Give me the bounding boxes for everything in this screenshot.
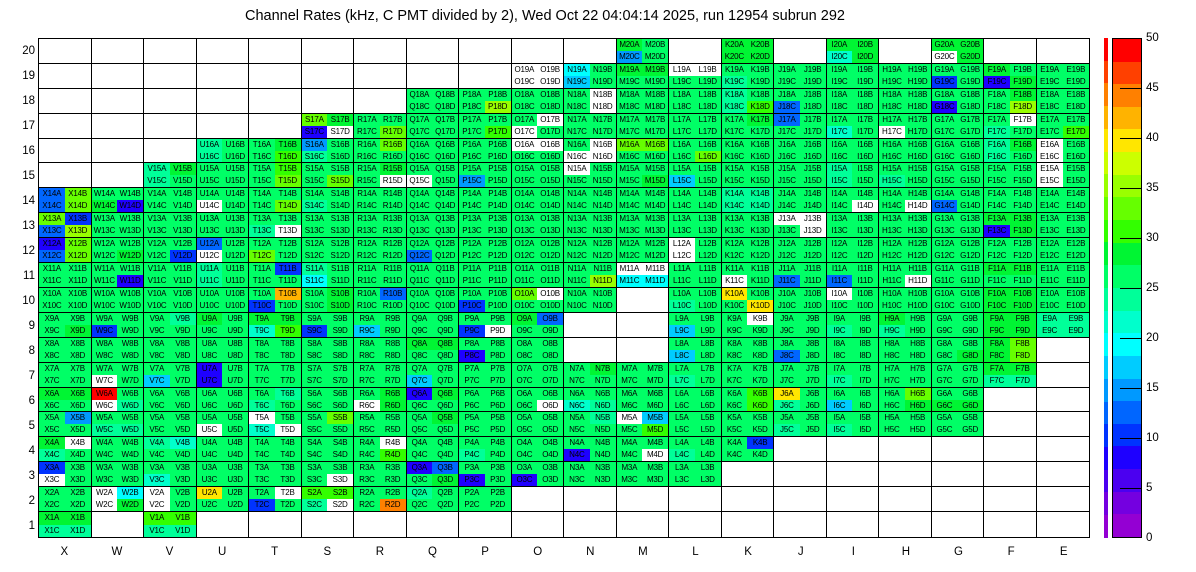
heatmap-subcell[interactable]: T16B (275, 139, 301, 151)
heatmap-subcell[interactable]: K5A (722, 412, 748, 424)
heatmap-subcell[interactable]: P5B (485, 412, 511, 424)
heatmap-subcell[interactable]: S14D (327, 200, 353, 212)
heatmap-cell[interactable]: P14AP14BP14CP14D (459, 188, 512, 213)
heatmap-subcell[interactable]: R7C (354, 375, 380, 387)
heatmap-subcell[interactable]: M3D (642, 474, 668, 486)
heatmap-subcell[interactable]: S6D (327, 400, 353, 412)
heatmap-subcell[interactable]: T10D (275, 300, 301, 312)
heatmap-subcell[interactable]: K9D (747, 325, 773, 337)
heatmap-cell[interactable] (1037, 437, 1090, 462)
heatmap-subcell[interactable]: K18D (747, 101, 773, 113)
heatmap-cell[interactable]: L17AL17BL17CL17D (669, 114, 722, 139)
heatmap-subcell[interactable]: F19A (984, 64, 1010, 76)
heatmap-subcell[interactable]: W10C (92, 300, 118, 312)
heatmap-cell[interactable]: W5AW5BW5CW5D (92, 412, 145, 437)
heatmap-subcell[interactable]: O3A (512, 462, 538, 474)
heatmap-cell[interactable]: T9AT9BT9CT9D (249, 313, 302, 338)
heatmap-subcell[interactable]: E19D (1063, 76, 1089, 88)
heatmap-subcell[interactable]: K14C (722, 200, 748, 212)
heatmap-subcell[interactable]: H7D (905, 375, 931, 387)
heatmap-subcell[interactable]: U10B (222, 288, 248, 300)
heatmap-subcell[interactable]: P15D (485, 175, 511, 187)
heatmap-subcell[interactable]: M5B (642, 412, 668, 424)
heatmap-subcell[interactable]: P7A (459, 363, 485, 375)
heatmap-subcell[interactable]: L7B (695, 363, 721, 375)
heatmap-subcell[interactable]: I13D (852, 225, 878, 237)
heatmap-subcell[interactable]: N13C (564, 225, 590, 237)
heatmap-subcell[interactable]: H14A (879, 188, 905, 200)
heatmap-subcell[interactable]: H17A (879, 114, 905, 126)
heatmap-cell[interactable] (459, 64, 512, 89)
heatmap-subcell[interactable]: N10C (564, 300, 590, 312)
heatmap-subcell[interactable]: S8A (302, 338, 328, 350)
heatmap-cell[interactable] (984, 388, 1037, 413)
heatmap-subcell[interactable]: L18B (695, 89, 721, 101)
heatmap-cell[interactable]: V14AV14BV14CV14D (144, 188, 197, 213)
heatmap-cell[interactable] (1037, 363, 1090, 388)
heatmap-subcell[interactable]: G5A (932, 412, 958, 424)
heatmap-subcell[interactable]: V14B (170, 188, 196, 200)
heatmap-cell[interactable]: O12AO12BO12CO12D (512, 238, 565, 263)
heatmap-cell[interactable] (774, 437, 827, 462)
heatmap-subcell[interactable]: K7B (747, 363, 773, 375)
heatmap-subcell[interactable]: V9D (170, 325, 196, 337)
heatmap-subcell[interactable]: G15D (957, 175, 983, 187)
heatmap-subcell[interactable]: W14D (117, 200, 143, 212)
heatmap-subcell[interactable]: S13A (302, 213, 328, 225)
heatmap-cell[interactable]: G20AG20BG20CG20D (932, 39, 985, 64)
heatmap-subcell[interactable]: H13A (879, 213, 905, 225)
heatmap-subcell[interactable]: X9A (39, 313, 65, 325)
heatmap-subcell[interactable]: Q15C (407, 175, 433, 187)
heatmap-cell[interactable]: Q12AQ12BQ12CQ12D (407, 238, 460, 263)
heatmap-subcell[interactable]: L13B (695, 213, 721, 225)
heatmap-cell[interactable]: G6AG6BG6CG6D (932, 388, 985, 413)
heatmap-subcell[interactable]: F16A (984, 139, 1010, 151)
heatmap-subcell[interactable]: R2A (354, 487, 380, 499)
heatmap-subcell[interactable]: P2B (485, 487, 511, 499)
heatmap-cell[interactable]: S9AS9BS9CS9D (302, 313, 355, 338)
heatmap-cell[interactable] (302, 89, 355, 114)
heatmap-cell[interactable]: I19AI19BI19CI19D (827, 64, 880, 89)
heatmap-subcell[interactable]: R14D (380, 200, 406, 212)
heatmap-subcell[interactable]: G7C (932, 375, 958, 387)
heatmap-subcell[interactable]: T9D (275, 325, 301, 337)
heatmap-subcell[interactable]: L3D (695, 474, 721, 486)
heatmap-subcell[interactable]: P7D (485, 375, 511, 387)
heatmap-subcell[interactable]: T7D (275, 375, 301, 387)
heatmap-subcell[interactable]: W11B (117, 263, 143, 275)
heatmap-subcell[interactable]: O7C (512, 375, 538, 387)
heatmap-cell[interactable]: W14AW14BW14CW14D (92, 188, 145, 213)
heatmap-subcell[interactable]: G17D (957, 126, 983, 138)
heatmap-cell[interactable]: X12AX12BX12CX12D (39, 238, 92, 263)
heatmap-subcell[interactable]: S13C (302, 225, 328, 237)
heatmap-subcell[interactable]: E16B (1063, 139, 1089, 151)
heatmap-subcell[interactable]: T16D (275, 151, 301, 163)
heatmap-subcell[interactable]: U15A (197, 163, 223, 175)
heatmap-subcell[interactable]: M18D (642, 101, 668, 113)
heatmap-cell[interactable]: V10AV10BV10CV10D (144, 288, 197, 313)
heatmap-cell[interactable]: H15AH15BH15CH15D (879, 163, 932, 188)
heatmap-subcell[interactable]: G17A (932, 114, 958, 126)
heatmap-subcell[interactable]: Q3C (407, 474, 433, 486)
heatmap-subcell[interactable]: N17C (564, 126, 590, 138)
heatmap-cell[interactable]: U2AU2BU2CU2D (197, 487, 250, 512)
heatmap-cell[interactable]: J6AJ6BJ6CJ6D (774, 388, 827, 413)
heatmap-subcell[interactable]: P16D (485, 151, 511, 163)
heatmap-cell[interactable]: V3AV3BV3CV3D (144, 462, 197, 487)
heatmap-subcell[interactable]: M17A (617, 114, 643, 126)
heatmap-subcell[interactable]: P17D (485, 126, 511, 138)
heatmap-subcell[interactable]: T13C (249, 225, 275, 237)
heatmap-cell[interactable]: F12AF12BF12CF12D (984, 238, 1037, 263)
heatmap-subcell[interactable]: K8B (747, 338, 773, 350)
heatmap-subcell[interactable]: X3B (65, 462, 91, 474)
heatmap-subcell[interactable]: T3B (275, 462, 301, 474)
heatmap-subcell[interactable]: R3A (354, 462, 380, 474)
heatmap-subcell[interactable]: K7D (747, 375, 773, 387)
heatmap-subcell[interactable]: H13B (905, 213, 931, 225)
heatmap-subcell[interactable]: K5D (747, 424, 773, 436)
heatmap-subcell[interactable]: O10D (537, 300, 563, 312)
heatmap-subcell[interactable]: L8C (669, 350, 695, 362)
heatmap-subcell[interactable]: V11B (170, 263, 196, 275)
heatmap-subcell[interactable]: R15A (354, 163, 380, 175)
heatmap-cell[interactable]: L10AL10BL10CL10D (669, 288, 722, 313)
heatmap-subcell[interactable]: W12B (117, 238, 143, 250)
heatmap-subcell[interactable]: X2A (39, 487, 65, 499)
heatmap-subcell[interactable]: T9C (249, 325, 275, 337)
heatmap-subcell[interactable]: G10C (932, 300, 958, 312)
heatmap-cell[interactable]: O9AO9BO9CO9D (512, 313, 565, 338)
heatmap-subcell[interactable]: J15B (800, 163, 826, 175)
heatmap-subcell[interactable]: J5D (800, 424, 826, 436)
heatmap-subcell[interactable]: I10D (852, 300, 878, 312)
heatmap-subcell[interactable]: V6C (144, 400, 170, 412)
heatmap-cell[interactable] (407, 512, 460, 537)
heatmap-subcell[interactable]: K6C (722, 400, 748, 412)
heatmap-subcell[interactable]: F7D (1010, 375, 1036, 387)
heatmap-subcell[interactable]: O18A (512, 89, 538, 101)
heatmap-subcell[interactable]: R11A (354, 263, 380, 275)
heatmap-subcell[interactable]: U5B (222, 412, 248, 424)
heatmap-subcell[interactable]: O14D (537, 200, 563, 212)
heatmap-cell[interactable]: P8AP8BP8CP8D (459, 338, 512, 363)
heatmap-subcell[interactable]: F13A (984, 213, 1010, 225)
heatmap-subcell[interactable]: P17A (459, 114, 485, 126)
heatmap-subcell[interactable]: X1D (65, 525, 91, 537)
heatmap-cell[interactable]: Q10AQ10BQ10CQ10D (407, 288, 460, 313)
heatmap-subcell[interactable]: P2C (459, 499, 485, 511)
heatmap-subcell[interactable]: G7B (957, 363, 983, 375)
heatmap-subcell[interactable]: K12A (722, 238, 748, 250)
heatmap-subcell[interactable]: N16A (564, 139, 590, 151)
heatmap-subcell[interactable]: V9B (170, 313, 196, 325)
heatmap-subcell[interactable]: I9A (827, 313, 853, 325)
heatmap-cell[interactable]: U10AU10BU10CU10D (197, 288, 250, 313)
heatmap-subcell[interactable]: P8D (485, 350, 511, 362)
heatmap-cell[interactable]: I5AI5BI5CI5D (827, 412, 880, 437)
heatmap-subcell[interactable]: H15D (905, 175, 931, 187)
heatmap-cell[interactable]: O6AO6BO6CO6D (512, 388, 565, 413)
heatmap-subcell[interactable]: E16D (1063, 151, 1089, 163)
heatmap-cell[interactable] (249, 512, 302, 537)
heatmap-cell[interactable]: N15AN15BN15CN15D (564, 163, 617, 188)
heatmap-subcell[interactable]: F16B (1010, 139, 1036, 151)
heatmap-subcell[interactable]: E16C (1037, 151, 1063, 163)
heatmap-subcell[interactable]: J18C (774, 101, 800, 113)
heatmap-cell[interactable]: L16AL16BL16CL16D (669, 139, 722, 164)
heatmap-subcell[interactable]: U8A (197, 338, 223, 350)
heatmap-cell[interactable] (879, 462, 932, 487)
heatmap-cell[interactable]: N17AN17BN17CN17D (564, 114, 617, 139)
heatmap-cell[interactable] (407, 64, 460, 89)
heatmap-subcell[interactable]: R10B (380, 288, 406, 300)
heatmap-cell[interactable]: I6AI6BI6CI6D (827, 388, 880, 413)
heatmap-subcell[interactable]: G6A (932, 388, 958, 400)
heatmap-subcell[interactable]: S13D (327, 225, 353, 237)
heatmap-cell[interactable] (564, 338, 617, 363)
heatmap-subcell[interactable]: L12C (669, 250, 695, 262)
heatmap-subcell[interactable]: V7D (170, 375, 196, 387)
heatmap-subcell[interactable]: P9B (485, 313, 511, 325)
heatmap-subcell[interactable]: S10C (302, 300, 328, 312)
heatmap-cell[interactable]: X6AX6BX6CX6D (39, 388, 92, 413)
heatmap-cell[interactable]: X2AX2BX2CX2D (39, 487, 92, 512)
heatmap-cell[interactable]: N4AN4BN4CN4D (564, 437, 617, 462)
heatmap-cell[interactable]: S10AS10BS10CS10D (302, 288, 355, 313)
heatmap-subcell[interactable]: I13B (852, 213, 878, 225)
heatmap-subcell[interactable]: X8B (65, 338, 91, 350)
heatmap-subcell[interactable]: F17D (1010, 126, 1036, 138)
heatmap-subcell[interactable]: H5D (905, 424, 931, 436)
heatmap-subcell[interactable]: T11B (275, 263, 301, 275)
heatmap-subcell[interactable]: T2C (249, 499, 275, 511)
heatmap-subcell[interactable]: E14C (1037, 200, 1063, 212)
heatmap-subcell[interactable]: T3A (249, 462, 275, 474)
heatmap-cell[interactable]: H17AH17BH17CH17D (879, 114, 932, 139)
heatmap-subcell[interactable]: I9D (852, 325, 878, 337)
heatmap-subcell[interactable]: F10A (984, 288, 1010, 300)
heatmap-subcell[interactable]: I7B (852, 363, 878, 375)
heatmap-subcell[interactable]: M11D (642, 275, 668, 287)
heatmap-cell[interactable]: S5AS5BS5CS5D (302, 412, 355, 437)
heatmap-subcell[interactable]: Q11D (432, 275, 458, 287)
heatmap-subcell[interactable]: X8A (39, 338, 65, 350)
heatmap-cell[interactable] (92, 64, 145, 89)
heatmap-subcell[interactable]: G19B (957, 64, 983, 76)
heatmap-subcell[interactable]: P12A (459, 238, 485, 250)
heatmap-subcell[interactable]: P16C (459, 151, 485, 163)
heatmap-subcell[interactable]: X11A (39, 263, 65, 275)
heatmap-subcell[interactable]: J10B (800, 288, 826, 300)
heatmap-subcell[interactable]: X13A (39, 213, 65, 225)
heatmap-subcell[interactable]: O7B (537, 363, 563, 375)
heatmap-cell[interactable]: L3AL3BL3CL3D (669, 462, 722, 487)
heatmap-subcell[interactable]: U8C (197, 350, 223, 362)
heatmap-cell[interactable]: M16AM16BM16CM16D (617, 139, 670, 164)
heatmap-cell[interactable]: L5AL5BL5CL5D (669, 412, 722, 437)
heatmap-subcell[interactable]: X6A (39, 388, 65, 400)
heatmap-cell[interactable]: R3AR3BR3CR3D (354, 462, 407, 487)
heatmap-subcell[interactable]: O4D (537, 449, 563, 461)
heatmap-subcell[interactable]: Q9D (432, 325, 458, 337)
heatmap-cell[interactable]: P11AP11BP11CP11D (459, 263, 512, 288)
heatmap-subcell[interactable]: G12D (957, 250, 983, 262)
heatmap-subcell[interactable]: I8D (852, 350, 878, 362)
heatmap-subcell[interactable]: K15A (722, 163, 748, 175)
heatmap-subcell[interactable]: Q4C (407, 449, 433, 461)
heatmap-subcell[interactable]: P4D (485, 449, 511, 461)
heatmap-subcell[interactable]: U3D (222, 474, 248, 486)
heatmap-subcell[interactable]: X3D (65, 474, 91, 486)
heatmap-subcell[interactable]: P4B (485, 437, 511, 449)
heatmap-subcell[interactable]: O18B (537, 89, 563, 101)
heatmap-cell[interactable]: X10AX10BX10CX10D (39, 288, 92, 313)
heatmap-subcell[interactable]: I7A (827, 363, 853, 375)
heatmap-cell[interactable]: Q9AQ9BQ9CQ9D (407, 313, 460, 338)
heatmap-subcell[interactable]: U14B (222, 188, 248, 200)
heatmap-cell[interactable]: X4AX4BX4CX4D (39, 437, 92, 462)
heatmap-subcell[interactable]: W11A (92, 263, 118, 275)
heatmap-cell[interactable]: M13AM13BM13CM13D (617, 213, 670, 238)
heatmap-subcell[interactable]: F8C (984, 350, 1010, 362)
heatmap-subcell[interactable]: E12C (1037, 250, 1063, 262)
heatmap-cell[interactable]: E10AE10BE10CE10D (1037, 288, 1090, 313)
heatmap-subcell[interactable]: R11D (380, 275, 406, 287)
heatmap-subcell[interactable]: Q5B (432, 412, 458, 424)
heatmap-subcell[interactable]: H7B (905, 363, 931, 375)
heatmap-subcell[interactable]: L5A (669, 412, 695, 424)
heatmap-subcell[interactable]: L9A (669, 313, 695, 325)
heatmap-subcell[interactable]: N7B (590, 363, 616, 375)
heatmap-subcell[interactable]: O15B (537, 163, 563, 175)
heatmap-subcell[interactable]: H16D (905, 151, 931, 163)
heatmap-cell[interactable]: O7AO7BO7CO7D (512, 363, 565, 388)
heatmap-subcell[interactable]: V3D (170, 474, 196, 486)
heatmap-subcell[interactable]: J17C (774, 126, 800, 138)
heatmap-cell[interactable]: L14AL14BL14CL14D (669, 188, 722, 213)
heatmap-subcell[interactable]: S6A (302, 388, 328, 400)
heatmap-subcell[interactable]: F11A (984, 263, 1010, 275)
heatmap-subcell[interactable]: P3B (485, 462, 511, 474)
heatmap-subcell[interactable]: S6C (302, 400, 328, 412)
heatmap-subcell[interactable]: I11A (827, 263, 853, 275)
heatmap-subcell[interactable]: T7B (275, 363, 301, 375)
heatmap-subcell[interactable]: V2B (170, 487, 196, 499)
heatmap-cell[interactable]: P12AP12BP12CP12D (459, 238, 512, 263)
heatmap-subcell[interactable]: P14D (485, 200, 511, 212)
heatmap-subcell[interactable]: L15C (669, 175, 695, 187)
heatmap-cell[interactable] (144, 89, 197, 114)
heatmap-cell[interactable]: J5AJ5BJ5CJ5D (774, 412, 827, 437)
heatmap-cell[interactable] (827, 487, 880, 512)
heatmap-subcell[interactable]: L6C (669, 400, 695, 412)
heatmap-subcell[interactable]: Q16C (407, 151, 433, 163)
heatmap-cell[interactable]: F15AF15BF15CF15D (984, 163, 1037, 188)
heatmap-subcell[interactable]: R10A (354, 288, 380, 300)
heatmap-subcell[interactable]: Q7C (407, 375, 433, 387)
heatmap-subcell[interactable]: U9B (222, 313, 248, 325)
heatmap-subcell[interactable]: G18B (957, 89, 983, 101)
heatmap-cell[interactable]: O11AO11BO11CO11D (512, 263, 565, 288)
heatmap-subcell[interactable]: P16A (459, 139, 485, 151)
heatmap-subcell[interactable]: L3B (695, 462, 721, 474)
heatmap-subcell[interactable]: U8D (222, 350, 248, 362)
heatmap-subcell[interactable]: K9B (747, 313, 773, 325)
heatmap-subcell[interactable]: W2A (92, 487, 118, 499)
heatmap-subcell[interactable]: S8C (302, 350, 328, 362)
heatmap-subcell[interactable]: V13A (144, 213, 170, 225)
heatmap-subcell[interactable]: R13A (354, 213, 380, 225)
heatmap-cell[interactable] (984, 437, 1037, 462)
heatmap-subcell[interactable]: X12A (39, 238, 65, 250)
heatmap-cell[interactable]: G17AG17BG17CG17D (932, 114, 985, 139)
heatmap-subcell[interactable]: L3A (669, 462, 695, 474)
heatmap-cell[interactable] (617, 512, 670, 537)
heatmap-subcell[interactable]: I15C (827, 175, 853, 187)
heatmap-subcell[interactable]: R8A (354, 338, 380, 350)
heatmap-subcell[interactable]: S9A (302, 313, 328, 325)
heatmap-subcell[interactable]: L16A (669, 139, 695, 151)
heatmap-subcell[interactable]: N6C (564, 400, 590, 412)
heatmap-cell[interactable]: I17AI17BI17CI17D (827, 114, 880, 139)
heatmap-subcell[interactable]: N6D (590, 400, 616, 412)
heatmap-subcell[interactable]: S3C (302, 474, 328, 486)
heatmap-subcell[interactable]: H11A (879, 263, 905, 275)
heatmap-cell[interactable] (1037, 512, 1090, 537)
heatmap-cell[interactable]: L4AL4BL4CL4D (669, 437, 722, 462)
heatmap-subcell[interactable]: H16C (879, 151, 905, 163)
heatmap-subcell[interactable]: O4B (537, 437, 563, 449)
heatmap-subcell[interactable]: K11A (722, 263, 748, 275)
heatmap-subcell[interactable]: T13D (275, 225, 301, 237)
heatmap-subcell[interactable]: Q14D (432, 200, 458, 212)
heatmap-subcell[interactable]: K13A (722, 213, 748, 225)
heatmap-subcell[interactable]: T16A (249, 139, 275, 151)
heatmap-cell[interactable]: X9AX9BX9CX9D (39, 313, 92, 338)
heatmap-subcell[interactable]: R9D (380, 325, 406, 337)
heatmap-subcell[interactable]: W7D (117, 375, 143, 387)
heatmap-subcell[interactable]: K12D (747, 250, 773, 262)
heatmap-subcell[interactable]: R16A (354, 139, 380, 151)
heatmap-subcell[interactable]: O5A (512, 412, 538, 424)
heatmap-cell[interactable]: F18AF18BF18CF18D (984, 89, 1037, 114)
heatmap-subcell[interactable]: G20D (957, 51, 983, 63)
heatmap-subcell[interactable]: E9D (1063, 325, 1089, 337)
heatmap-subcell[interactable]: O5B (537, 412, 563, 424)
heatmap-cell[interactable]: J8AJ8BJ8CJ8D (774, 338, 827, 363)
heatmap-cell[interactable]: K6AK6BK6CK6D (722, 388, 775, 413)
heatmap-subcell[interactable]: L5C (669, 424, 695, 436)
heatmap-subcell[interactable]: Q18D (432, 101, 458, 113)
heatmap-subcell[interactable]: V13B (170, 213, 196, 225)
heatmap-cell[interactable] (302, 512, 355, 537)
heatmap-subcell[interactable]: R8B (380, 338, 406, 350)
heatmap-subcell[interactable]: F14B (1010, 188, 1036, 200)
heatmap-cell[interactable]: R11AR11BR11CR11D (354, 263, 407, 288)
heatmap-subcell[interactable]: J10C (774, 300, 800, 312)
heatmap-cell[interactable]: G14AG14BG14CG14D (932, 188, 985, 213)
heatmap-subcell[interactable]: R8C (354, 350, 380, 362)
heatmap-subcell[interactable]: T6A (249, 388, 275, 400)
heatmap-subcell[interactable]: M12A (617, 238, 643, 250)
heatmap-cell[interactable]: I16AI16BI16CI16D (827, 139, 880, 164)
heatmap-subcell[interactable]: O18C (512, 101, 538, 113)
heatmap-subcell[interactable]: R10D (380, 300, 406, 312)
heatmap-cell[interactable]: S11AS11BS11CS11D (302, 263, 355, 288)
